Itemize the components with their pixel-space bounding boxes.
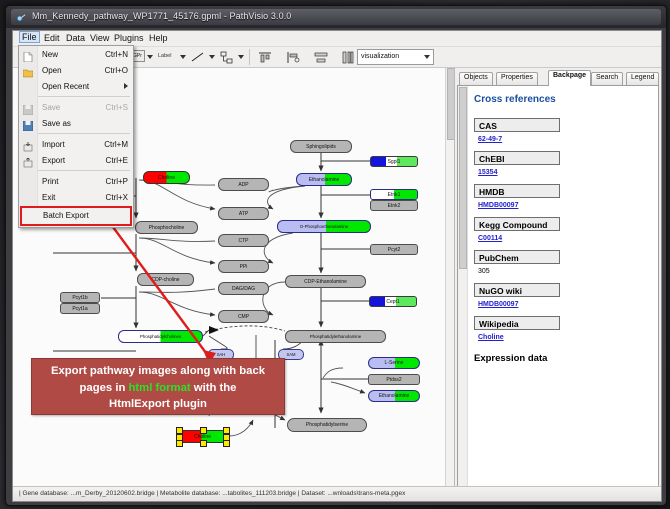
window-title: Mm_Kennedy_pathway_WP1771_45176.gpml - P…	[32, 11, 291, 21]
menu-file[interactable]: File	[19, 31, 40, 43]
pathvisio-icon	[16, 12, 27, 23]
menu-item-accelerator: Ctrl+N	[105, 50, 128, 59]
xref-link[interactable]: HMDB00097	[478, 202, 652, 209]
xref-source-header: Kegg Compound	[474, 217, 560, 231]
node-label: ADP	[238, 182, 248, 188]
node-label: CDP-choline	[151, 277, 179, 283]
menu-item-accelerator: Ctrl+E	[106, 156, 128, 165]
node-label: SAH	[217, 352, 226, 357]
metabolite-choline[interactable]: Choline	[143, 171, 190, 184]
cross-reference-list: CAS62-49-7ChEBI15354HMDBHMDB00097Kegg Co…	[474, 118, 652, 341]
import-icon	[23, 139, 33, 149]
menu-item-label: Print	[42, 177, 58, 186]
metabolite-l-serine[interactable]: L-Serine	[368, 357, 420, 369]
chevron-right-icon	[124, 83, 128, 89]
node-label: L-Serine	[385, 360, 404, 366]
node-label: Sphingolipids	[306, 144, 336, 150]
metabolite-sphingolipids[interactable]: Sphingolipids	[290, 140, 352, 153]
menu-item-save: SaveCtrl+S	[19, 99, 133, 115]
menu-edit[interactable]: Edit	[41, 32, 63, 44]
menu-data[interactable]: Data	[63, 32, 88, 44]
menu-item-label: Save	[42, 103, 60, 112]
gene-pcyt1a[interactable]: Pcyt1a	[60, 303, 100, 314]
chevron-down-icon[interactable]	[209, 55, 215, 59]
selection-handle[interactable]	[176, 440, 183, 447]
node-label: Choline	[194, 434, 211, 440]
gene-etnk2[interactable]: Etnk2	[370, 200, 418, 211]
tab-objects[interactable]: Objects	[459, 72, 493, 86]
callout-line3: HtmlExport plugin	[109, 398, 207, 410]
menu-item-exit[interactable]: ExitCtrl+X	[19, 189, 133, 205]
side-panel: Objects Properties Backpage Search Legen…	[455, 68, 661, 496]
metabolite-phosphocholine[interactable]: Phosphocholine	[135, 221, 198, 234]
xref-source-header: PubChem	[474, 250, 560, 264]
node-label: Pcyt1a	[72, 306, 87, 312]
metabolite-ethanolamine[interactable]: Ethanolamine	[368, 390, 420, 402]
node-label: Phosphatidylserine	[306, 422, 348, 428]
gene-sgpl1[interactable]: Sgpl1	[370, 156, 418, 167]
menu-item-export[interactable]: ExportCtrl+E	[19, 152, 133, 168]
node-label: CMP	[238, 314, 249, 320]
backpage-panel: Cross references CAS62-49-7ChEBI15354HMD…	[457, 85, 659, 493]
gene-ptdss2[interactable]: Ptdss2	[368, 374, 420, 385]
save-disk-icon	[23, 102, 33, 112]
menu-item-print[interactable]: PrintCtrl+P	[19, 173, 133, 189]
chevron-down-icon[interactable]	[180, 55, 186, 59]
open-folder-icon	[23, 65, 33, 75]
gene-cept1[interactable]: Cept1	[369, 296, 417, 307]
chevron-down-icon	[424, 55, 430, 59]
toolbar-separator	[249, 49, 250, 65]
new-document-icon	[23, 49, 33, 59]
node-label: Etnk1	[388, 192, 401, 198]
callout-line2-before: pages in	[80, 382, 129, 394]
metabolite-cdp-choline[interactable]: CDP-choline	[137, 273, 194, 286]
tab-backpage[interactable]: Backpage	[548, 70, 591, 86]
scrollbar-thumb[interactable]	[447, 68, 455, 140]
menu-item-label: New	[42, 50, 58, 59]
menu-item-new[interactable]: NewCtrl+N	[19, 46, 133, 62]
tab-search[interactable]: Search	[591, 72, 623, 86]
metabolite-o-phosphoethanolamine[interactable]: O-Phosphoethanolamine	[277, 220, 371, 233]
gene-pcyt2[interactable]: Pcyt2	[370, 244, 418, 255]
node-label: Cept1	[386, 299, 399, 305]
node-label: DAG/DAG	[232, 286, 255, 292]
menu-item-accelerator: Ctrl+X	[106, 193, 128, 202]
file-menu-rows: NewCtrl+NOpenCtrl+OOpen RecentSaveCtrl+S…	[19, 46, 133, 205]
node-label: Phosphatidylcholines	[140, 334, 181, 339]
batch-export-label: Batch Export	[43, 211, 89, 220]
pemt-arrowhead	[209, 326, 219, 334]
metabolite-ctp[interactable]: CTP	[218, 234, 269, 247]
menu-item-label: Open Recent	[42, 82, 89, 91]
menu-item-accelerator: Ctrl+S	[106, 103, 128, 112]
window-titlebar: Mm_Kennedy_pathway_WP1771_45176.gpml - P…	[6, 6, 666, 28]
xref-link[interactable]: 62-49-7	[478, 136, 652, 143]
tab-legend[interactable]: Legend	[626, 72, 659, 86]
xref-source-header: ChEBI	[474, 151, 560, 165]
node-label: Pcyt2	[388, 247, 401, 253]
node-label: Etnk2	[388, 203, 401, 209]
menu-item-label: Save as	[42, 119, 71, 128]
menu-item-accelerator: Ctrl+M	[104, 140, 128, 149]
node-label: PPi	[240, 264, 248, 270]
visualization-combobox[interactable]: visualization	[357, 49, 434, 65]
node-label: CTP	[239, 238, 249, 244]
node-label: Ethanolamine	[309, 177, 340, 183]
stack-vertical-button[interactable]	[314, 51, 328, 64]
menu-item-label: Open	[42, 66, 62, 75]
xref-link[interactable]: 15354	[478, 169, 652, 176]
node-label: Ptdss2	[386, 377, 401, 383]
annotation-callout: Export pathway images along with back pa…	[31, 358, 285, 415]
metabolite-cmp[interactable]: CMP	[218, 310, 269, 323]
os-window: Mm_Kennedy_pathway_WP1771_45176.gpml - P…	[5, 5, 667, 506]
xref-link[interactable]: C00114	[478, 235, 652, 242]
line-tool-button[interactable]	[191, 52, 205, 63]
node-label: Phosphocholine	[149, 225, 185, 231]
metabolite-adp[interactable]: ADP	[218, 178, 269, 191]
statusbar: | Gene database: ...m_Derby_20120602.bri…	[13, 486, 661, 501]
menu-item-batch-export[interactable]: Batch Export	[20, 206, 132, 226]
metabolite-phosphatidylserine[interactable]: Phosphatidylserine	[287, 418, 367, 432]
node-label: O-Phosphoethanolamine	[300, 224, 349, 229]
interaction-tool-button[interactable]	[220, 51, 234, 64]
callout-line1: Export pathway images along with back	[51, 365, 265, 377]
application-window: File Edit Data View Plugins Help Zoom: 1…	[12, 30, 662, 502]
metabolite-phosphatidylcholines[interactable]: Phosphatidylcholines	[118, 330, 203, 343]
file-menu-popup[interactable]: NewCtrl+NOpenCtrl+OOpen RecentSaveCtrl+S…	[18, 45, 134, 228]
menu-item-label: Import	[42, 140, 65, 149]
selection-handle[interactable]	[223, 440, 230, 447]
menu-view[interactable]: View	[87, 32, 112, 44]
callout-highlight: html format	[129, 382, 191, 394]
screenshot-root: Mm_Kennedy_pathway_WP1771_45176.gpml - P…	[0, 0, 670, 509]
xref-source-header: NuGO wiki	[474, 283, 560, 297]
menu-item-import[interactable]: ImportCtrl+M	[19, 136, 133, 152]
menu-item-open-recent[interactable]: Open Recent	[19, 78, 133, 94]
label-tool-button[interactable]: Label	[158, 53, 171, 59]
menu-separator	[22, 96, 130, 97]
menu-help[interactable]: Help	[146, 32, 171, 44]
menu-plugins[interactable]: Plugins	[111, 32, 147, 44]
menu-separator	[22, 133, 130, 134]
node-label: Phosphatidylethanolamine	[310, 334, 362, 339]
node-label: ATP	[239, 211, 248, 217]
xref-link[interactable]: Choline	[478, 334, 652, 341]
menu-item-open[interactable]: OpenCtrl+O	[19, 62, 133, 78]
node-label: Ethanolamine	[379, 393, 410, 399]
align-left-button[interactable]	[286, 51, 300, 64]
stack-horizontal-button[interactable]	[341, 51, 355, 64]
metabolite-atp[interactable]: ATP	[218, 207, 269, 220]
xref-link[interactable]: HMDB00097	[478, 301, 652, 308]
cross-references-title: Cross references	[474, 94, 652, 105]
xref-source-header: HMDB	[474, 184, 560, 198]
chevron-down-icon[interactable]	[147, 55, 153, 59]
node-label: Choline	[158, 175, 175, 181]
status-text: | Gene database: ...m_Derby_20120602.bri…	[19, 490, 405, 497]
backpage-content: Cross references CAS62-49-7ChEBI15354HMD…	[468, 86, 658, 492]
scrollbar-thumb[interactable]	[459, 87, 467, 269]
export-icon	[23, 155, 33, 165]
canvas-vertical-scrollbar[interactable]	[445, 68, 454, 496]
menu-item-label: Export	[42, 156, 65, 165]
menu-item-label: Exit	[42, 193, 55, 202]
metabolite-ppi[interactable]: PPi	[218, 260, 269, 273]
gene-pcyt1b[interactable]: Pcyt1b	[60, 292, 100, 303]
visualization-value: visualization	[361, 53, 399, 60]
node-label: Sgpl1	[388, 159, 401, 165]
selection-handle[interactable]	[200, 427, 207, 434]
xref-source-header: CAS	[474, 118, 560, 132]
xref-value: 305	[478, 268, 652, 275]
metabolite-cdp-ethanolamine[interactable]: CDP-Ethanolamine	[285, 275, 366, 288]
node-label: SAM	[286, 352, 295, 357]
menu-item-save-as[interactable]: Save as	[19, 115, 133, 131]
metabolite-ethanolamine[interactable]: Ethanolamine	[296, 173, 352, 186]
menu-item-accelerator: Ctrl+O	[105, 66, 128, 75]
selection-handle[interactable]	[200, 440, 207, 447]
callout-line2-after: with the	[191, 382, 237, 394]
gene-etnk1[interactable]: Etnk1	[370, 189, 418, 200]
save-as-icon	[23, 118, 33, 128]
metabolite-phosphatidylethanolamine[interactable]: Phosphatidylethanolamine	[285, 330, 386, 343]
node-label: CDP-Ethanolamine	[304, 279, 347, 285]
metabolite-dag-dag[interactable]: DAG/DAG	[218, 282, 269, 295]
menu-item-accelerator: Ctrl+P	[106, 177, 128, 186]
backpage-scrollbar[interactable]	[458, 86, 468, 492]
node-label: Pcyt1b	[72, 295, 87, 301]
side-panel-tabstrip: Objects Properties Backpage Search Legen…	[457, 70, 661, 85]
menu-separator	[22, 170, 130, 171]
align-top-button[interactable]	[258, 51, 272, 64]
chevron-down-icon[interactable]	[238, 55, 244, 59]
tab-properties[interactable]: Properties	[496, 72, 538, 86]
expression-data-title: Expression data	[474, 353, 652, 364]
xref-source-header: Wikipedia	[474, 316, 560, 330]
